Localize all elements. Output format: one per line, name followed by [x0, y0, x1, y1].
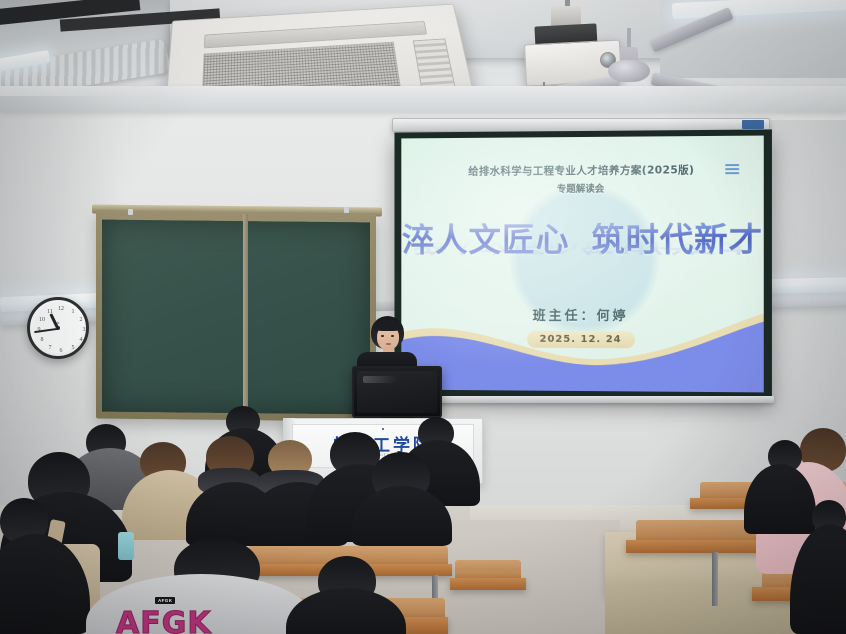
- slide-subtitle: 专题解读会: [401, 180, 763, 196]
- clock-numeral: 3: [80, 327, 88, 333]
- jacket-back-print: AFGK: [116, 606, 212, 634]
- podium-logo-dot: [382, 428, 384, 430]
- water-bottle: [118, 532, 134, 560]
- clock-numeral: 4: [77, 337, 85, 343]
- wall-clock: ◈ 12 1 2 3 4 5 6 7 8 9 10 11: [27, 297, 89, 359]
- reflect-left: 淬人文匠心: [413, 235, 581, 257]
- desk-leg: [712, 552, 718, 606]
- projected-slide: 给排水科学与工程专业人才培养方案(2025版) 专题解读会 淬人文匠心筑时代新才…: [401, 136, 763, 393]
- screen-bottom-bar: [390, 396, 774, 403]
- clock-numeral: 6: [57, 348, 65, 354]
- clock-center-pin: [56, 326, 60, 330]
- clock-numeral: 10: [38, 317, 46, 323]
- reflect-right: 筑时代新才: [581, 235, 753, 257]
- desk-backrest: [455, 560, 521, 580]
- desk-surface: [450, 578, 526, 590]
- screen-housing-label: [742, 120, 764, 129]
- presenter-mouth: [386, 343, 391, 345]
- hamburger-menu-icon[interactable]: [725, 164, 739, 174]
- chalkboard-surface: [102, 220, 370, 415]
- clock-numeral: 2: [77, 317, 85, 323]
- presenter-fringe: [374, 320, 402, 331]
- projection-screen: 给排水科学与工程专业人才培养方案(2025版) 专题解读会 淬人文匠心筑时代新才…: [394, 129, 771, 400]
- monitor-glare: [363, 376, 397, 383]
- classroom-scene: ◈ 12 1 2 3 4 5 6 7 8 9 10 11 给排水科学与工程专业人…: [0, 0, 846, 634]
- ceiling-edge-beam: [0, 86, 846, 112]
- slide-title: 给排水科学与工程专业人才培养方案(2025版): [401, 162, 763, 179]
- presenter-eye: [381, 335, 384, 337]
- chalkboard-divider: [243, 214, 248, 418]
- podium-monitor: [352, 366, 442, 418]
- clock-face: ◈ 12 1 2 3 4 5 6 7 8 9 10 11: [33, 303, 83, 353]
- monitor-screen: [357, 371, 437, 413]
- green-chalkboard: [96, 211, 376, 422]
- clock-numeral: 8: [38, 337, 46, 343]
- clock-numeral: 5: [69, 345, 77, 351]
- clock-numeral: 1: [69, 309, 77, 315]
- slide-headline-reflection: 淬人文匠心筑时代新才: [401, 237, 763, 256]
- clock-numeral: 7: [46, 345, 54, 351]
- chalkboard-clip: [128, 209, 133, 215]
- ceiling-fan-hub-cap: [608, 60, 650, 82]
- clock-numeral: 12: [57, 306, 65, 312]
- jacket-brand-label: AFGK: [155, 597, 175, 604]
- slide-blue-wave: [401, 310, 763, 392]
- chalkboard-clip: [344, 207, 349, 213]
- presenter-eye: [391, 335, 394, 337]
